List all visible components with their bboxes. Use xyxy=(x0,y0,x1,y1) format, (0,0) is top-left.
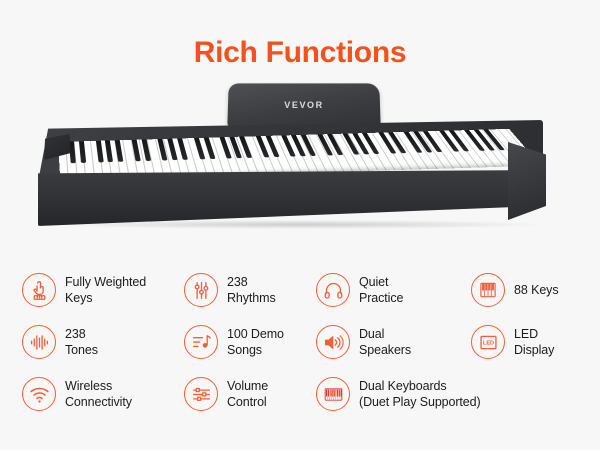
feature-item-dual-keyboards: Dual Keyboards (Duet Play Supported) xyxy=(316,377,584,411)
piano-keys-icon xyxy=(471,273,505,307)
brand-logo: VEVOR xyxy=(228,100,380,110)
feature-label: Dual Speakers xyxy=(359,326,411,358)
feature-item-88-keys: 88 Keys xyxy=(471,273,584,307)
drop-shadow xyxy=(54,220,542,229)
feature-label: LED Display xyxy=(514,326,554,358)
feature-label: 238 Tones xyxy=(65,326,98,358)
sliders-vertical-icon xyxy=(184,273,218,307)
feature-label: Dual Keyboards (Duet Play Supported) xyxy=(359,378,481,410)
feature-item-volume-control: Volume Control xyxy=(184,377,316,411)
feature-label: 238 Rhythms xyxy=(227,274,276,306)
feature-item-quiet-practice: Quiet Practice xyxy=(316,273,471,307)
feature-item-fully-weighted-keys: Fully Weighted Keys xyxy=(22,273,184,307)
feature-item-wireless-connectivity: Wireless Connectivity xyxy=(22,377,184,411)
product-hero-image: VEVOR xyxy=(0,82,600,242)
feature-item-238-rhythms: 238 Rhythms xyxy=(184,273,316,307)
sound-wave-icon xyxy=(22,325,56,359)
dual-keyboard-icon xyxy=(316,377,350,411)
digital-piano-illustration: VEVOR xyxy=(0,82,600,242)
led-display-icon: LED xyxy=(471,325,505,359)
wifi-icon xyxy=(22,377,56,411)
music-stand: VEVOR xyxy=(227,83,380,127)
headphones-icon xyxy=(316,273,350,307)
music-note-list-icon xyxy=(184,325,218,359)
feature-item-dual-speakers: Dual Speakers xyxy=(316,325,471,359)
feature-label: Wireless Connectivity xyxy=(65,378,132,410)
feature-label: 88 Keys xyxy=(514,282,558,298)
feature-item-238-tones: 238 Tones xyxy=(22,325,184,359)
svg-text:LED: LED xyxy=(482,340,493,346)
page-title: Rich Functions xyxy=(0,0,600,68)
feature-grid: Fully Weighted Keys 238 Rhythms xyxy=(22,264,584,420)
feature-label: Quiet Practice xyxy=(359,274,403,306)
feature-item-led-display: LED LED Display xyxy=(471,325,584,359)
feature-label: 100 Demo Songs xyxy=(227,326,284,358)
piano-chassis-front xyxy=(38,170,543,226)
sliders-horizontal-icon xyxy=(184,377,218,411)
speaker-icon xyxy=(316,325,350,359)
piano-chassis-end-cap xyxy=(508,142,546,220)
feature-label: Fully Weighted Keys xyxy=(65,274,146,306)
feature-label: Volume Control xyxy=(227,378,268,410)
feature-item-100-demo-songs: 100 Demo Songs xyxy=(184,325,316,359)
weighted-keys-icon xyxy=(22,273,56,307)
